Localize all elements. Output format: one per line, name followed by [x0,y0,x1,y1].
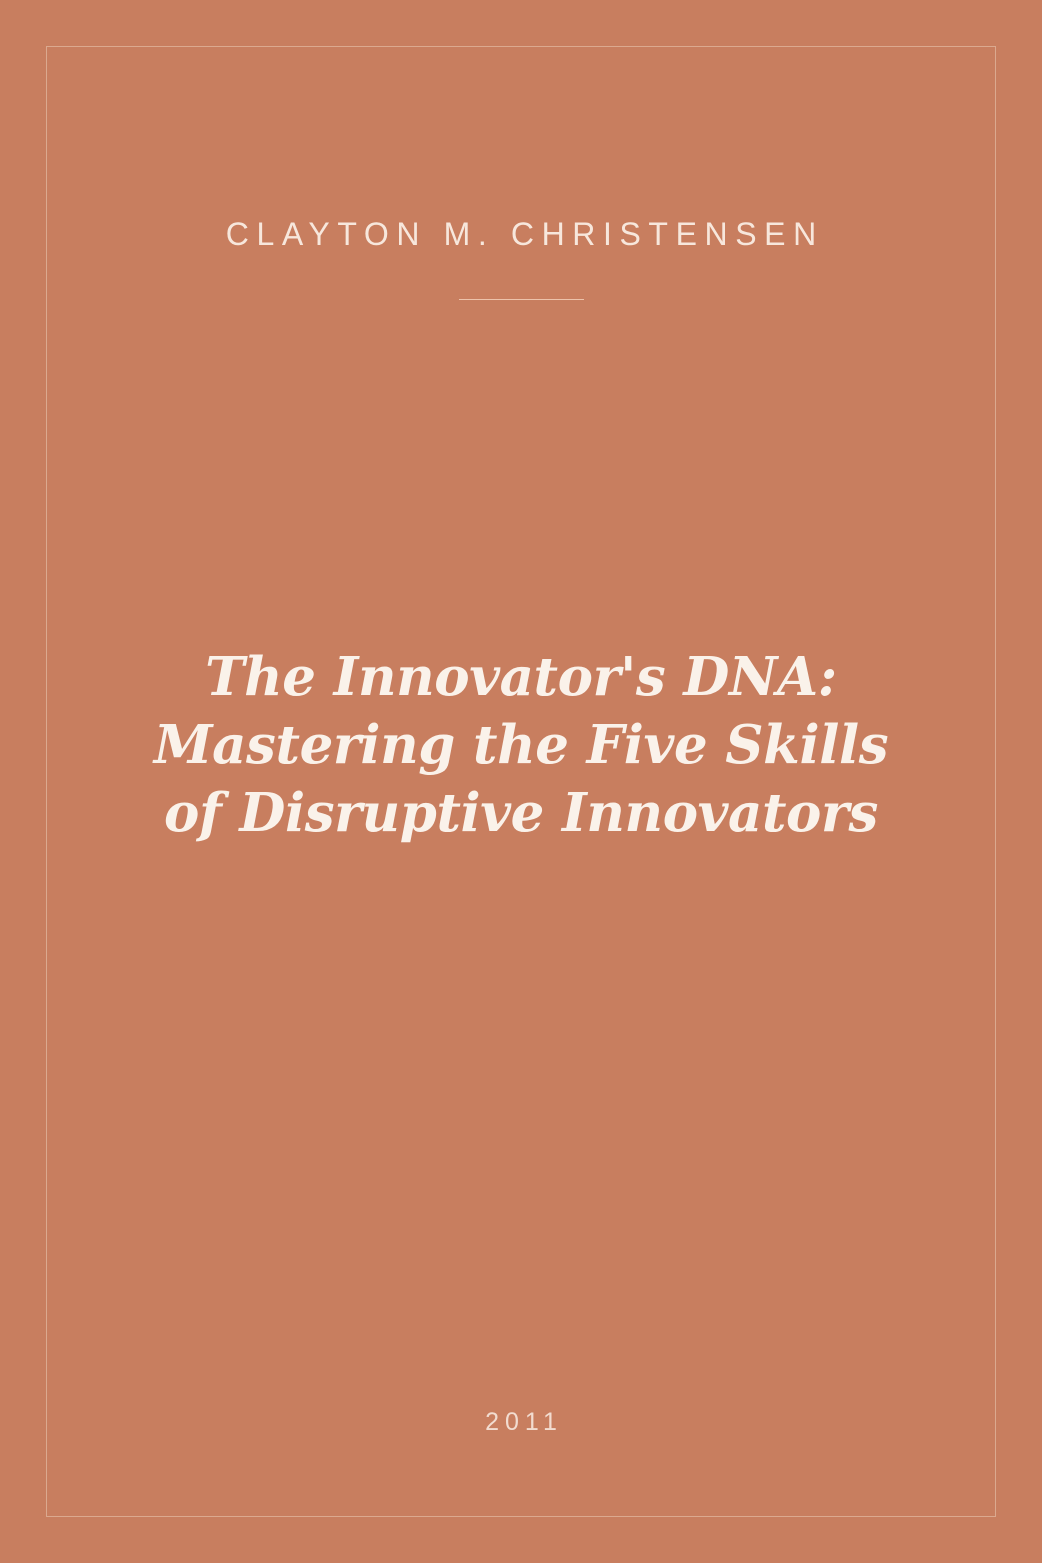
title-block: The Innovator's DNA: Mastering the Five … [0,643,1042,847]
author-name: CLAYTON M. CHRISTENSEN [0,212,1042,256]
publication-year: 2011 [0,1405,1042,1439]
author-divider-rule [459,299,584,300]
book-title-line-1: The Innovator's DNA: [90,643,952,711]
book-title-line-3: of Disruptive Innovators [90,779,952,847]
book-cover: CLAYTON M. CHRISTENSEN The Innovator's D… [0,0,1042,1563]
author-block: CLAYTON M. CHRISTENSEN [0,212,1042,300]
book-title-line-2: Mastering the Five Skills [90,711,952,779]
year-block: 2011 [0,1405,1042,1439]
